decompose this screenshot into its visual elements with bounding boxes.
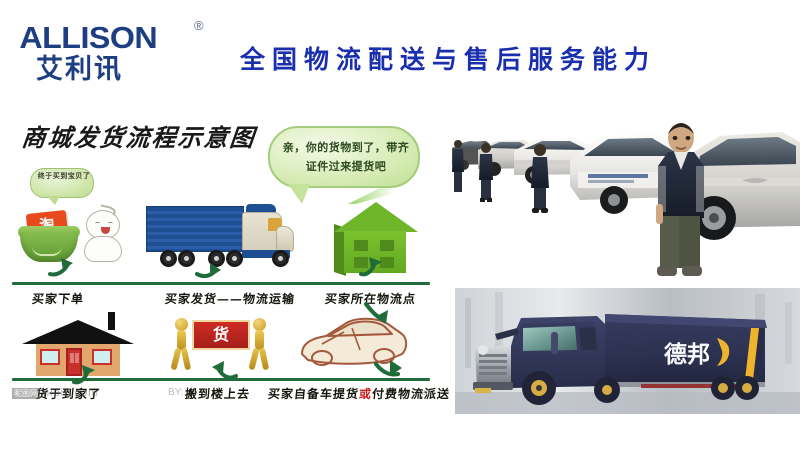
green-warehouse-icon (330, 192, 426, 280)
truck-wheel (226, 250, 243, 267)
label-part-pre: 买家自备车提货 (267, 387, 359, 401)
flow-step-label-carry-upstairs: 搬到楼上去 (184, 385, 251, 402)
warehouse-window (380, 240, 394, 251)
diagram-divider-line (12, 282, 430, 285)
car-sketch-icon (292, 308, 412, 376)
carrier-leg (181, 348, 191, 371)
flow-step-label-order: 买家下单 (31, 290, 85, 307)
shopping-basket-icon: 终于买到宝贝了 淘 (14, 168, 134, 280)
cartoon-buyer-figure-icon (76, 208, 132, 264)
diagram-divider-line (12, 378, 430, 381)
house-roof (22, 320, 134, 344)
flow-arrow-icon (194, 258, 224, 284)
truck-nose (276, 226, 294, 252)
truck-trailer (146, 206, 244, 252)
figure-eye-right (108, 222, 113, 225)
buyer-speech-bubble-small: 终于买到宝贝了 (30, 168, 94, 198)
deppon-logistics-truck-photo: 德邦 (455, 288, 800, 414)
flow-arrow-icon (360, 300, 390, 326)
truck-wheel (272, 250, 289, 267)
logistics-point-speech-text: 亲，你的货物到了，带齐证件过来提货吧 (280, 139, 412, 176)
figure-mouth (101, 227, 110, 234)
buyer-speech-bubble-small-text: 终于买到宝贝了 (36, 172, 92, 181)
page-title: 全国物流配送与售后服务能力 (240, 40, 770, 76)
flow-step-label-delivered-home: 货于到家了 (35, 385, 102, 402)
company-vehicle-fleet-photo (452, 108, 800, 280)
logo-latin-text: ALLISON (19, 22, 157, 53)
house-window (40, 349, 60, 365)
slide-root: ALLISON ® 艾利讯 全国物流配送与售后服务能力 商城发货流程示意图 终于… (0, 0, 800, 450)
company-logo: ALLISON ® 艾利讯 (22, 22, 212, 84)
warehouse-window (354, 240, 368, 251)
truck-wheel (160, 250, 177, 267)
label-part-post: 付费物流派送 (371, 387, 450, 401)
slide-header: ALLISON ® 艾利讯 全国物流配送与售后服务能力 (0, 0, 800, 100)
flow-arrow-icon (358, 254, 388, 280)
carriers-icon: 货 (168, 314, 280, 376)
warehouse-roof (334, 202, 418, 232)
figure-eye-left (95, 222, 100, 225)
carrier-leg (259, 348, 269, 371)
logo-chinese-text: 艾利讯 (36, 56, 212, 84)
flow-arrow-icon (48, 254, 78, 280)
goods-crate: 货 (192, 320, 250, 350)
carrier-figure (248, 318, 274, 372)
flow-step-label-pickup-or-paid-delivery: 买家自备车提货或付费物流派送 (267, 385, 451, 402)
watermark-by: BY: (168, 387, 184, 398)
registered-trademark-icon: ® (194, 18, 204, 33)
semi-truck-icon (146, 198, 296, 280)
truck-wheel (178, 250, 195, 267)
flow-step-label-transport: 买家发货——物流运输 (164, 290, 296, 307)
shipping-flow-diagram: 商城发货流程示意图 终于买到宝贝了 淘 (0, 100, 440, 420)
logistics-point-speech-bubble: 亲，你的货物到了，带齐证件过来提货吧 (268, 126, 420, 188)
carrier-leg (170, 348, 181, 371)
carrier-leg (248, 348, 259, 371)
figure-body (84, 236, 122, 262)
goods-crate-label: 货 (194, 322, 248, 348)
house-icon (22, 312, 140, 376)
diagram-title: 商城发货流程示意图 (20, 118, 258, 153)
